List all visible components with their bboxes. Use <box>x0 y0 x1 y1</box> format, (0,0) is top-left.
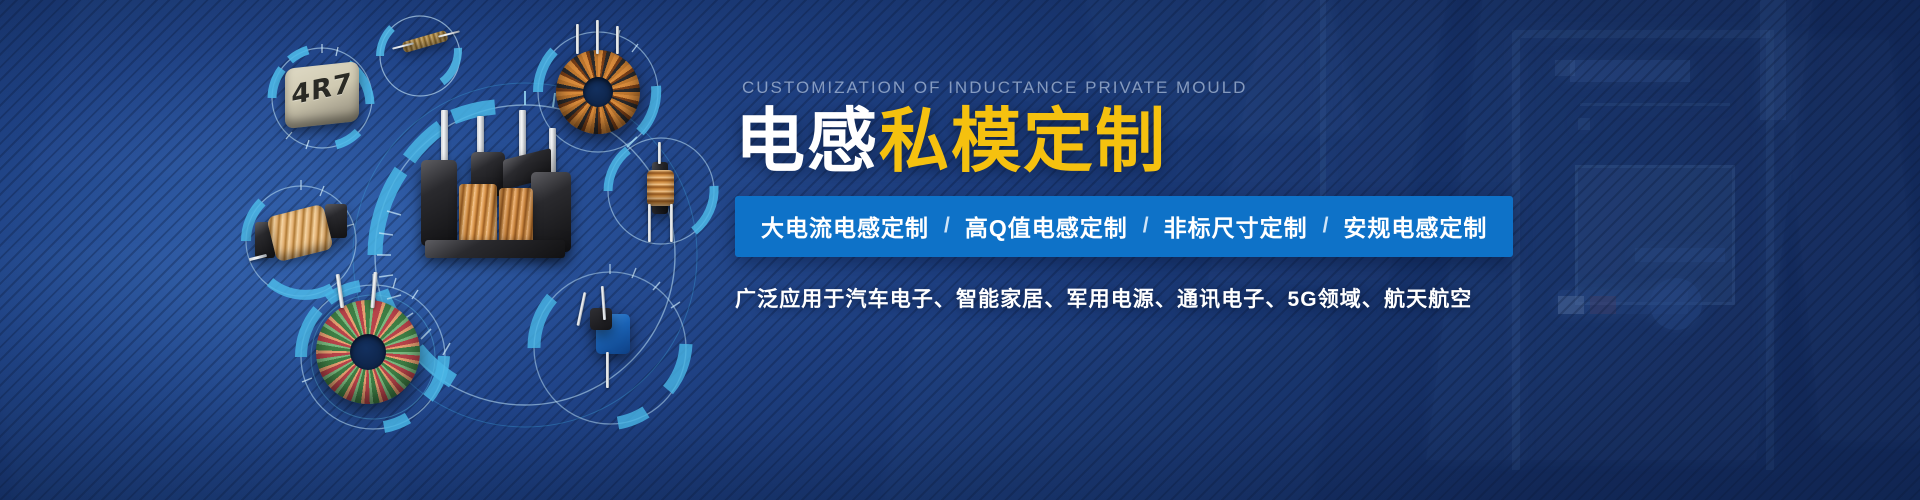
product-flat-wire-inductor <box>255 196 347 272</box>
feature-item-high-current[interactable]: 大电流电感定制 <box>761 209 929 243</box>
banner-eyebrow-english: CUSTOMIZATION OF INDUCTANCE PRIVATE MOUL… <box>742 78 1635 98</box>
feature-item-safety-certified[interactable]: 安规电感定制 <box>1343 209 1487 243</box>
feature-separator-3: / <box>1308 214 1344 238</box>
product-radial-lead-inductor <box>572 300 646 392</box>
smd-inductor-marking: 4R7 <box>285 66 359 113</box>
toroid-center-hole <box>583 77 613 107</box>
product-green-toroidal-choke <box>316 300 420 404</box>
rod-core-lead-right <box>670 204 673 242</box>
toroid-lead-3 <box>616 26 619 54</box>
choke-bobbin-left <box>421 160 457 246</box>
feature-separator-1: / <box>929 214 965 238</box>
title-gold-part: 私模定制 <box>879 102 1167 180</box>
rod-core-winding <box>647 170 674 206</box>
toroid-lead-1 <box>576 24 579 54</box>
flatwire-winding <box>266 204 333 263</box>
feature-separator-2: / <box>1128 214 1164 238</box>
rod-core-lead-top <box>658 142 661 164</box>
smd-inductor-body: 4R7 <box>285 61 359 129</box>
page-title: 电感私模定制 <box>735 106 1635 176</box>
choke-base-plate <box>425 240 565 258</box>
banner-copy-block: CUSTOMIZATION OF INDUCTANCE PRIVATE MOUL… <box>735 78 1635 313</box>
rod-core-lead-left <box>648 204 651 242</box>
banner-application-subtext: 广泛应用于汽车电子、智能家居、军用电源、通讯电子、5G领域、航天航空 <box>735 283 1635 313</box>
feature-item-high-q[interactable]: 高Q值电感定制 <box>965 209 1128 243</box>
title-white-part: 电感 <box>735 102 879 180</box>
product-rod-core-inductor <box>630 146 692 242</box>
feature-item-non-standard-size[interactable]: 非标尺寸定制 <box>1164 209 1308 243</box>
air-coil-winding <box>401 30 448 53</box>
radial-inductor-cap <box>590 308 612 330</box>
product-smd-power-inductor: 4R7 <box>285 65 359 131</box>
green-toroid-center-hole <box>350 334 386 370</box>
product-high-current-common-mode-choke <box>415 110 575 260</box>
toroid-lead-2 <box>596 20 599 54</box>
radial-inductor-lead-bottom <box>606 352 609 388</box>
inductance-custom-mould-banner: 4R7 <box>0 0 1920 500</box>
product-air-core-coil <box>392 26 458 60</box>
feature-pill-bar[interactable]: 大电流电感定制 / 高Q值电感定制 / 非标尺寸定制 / 安规电感定制 <box>735 196 1513 257</box>
